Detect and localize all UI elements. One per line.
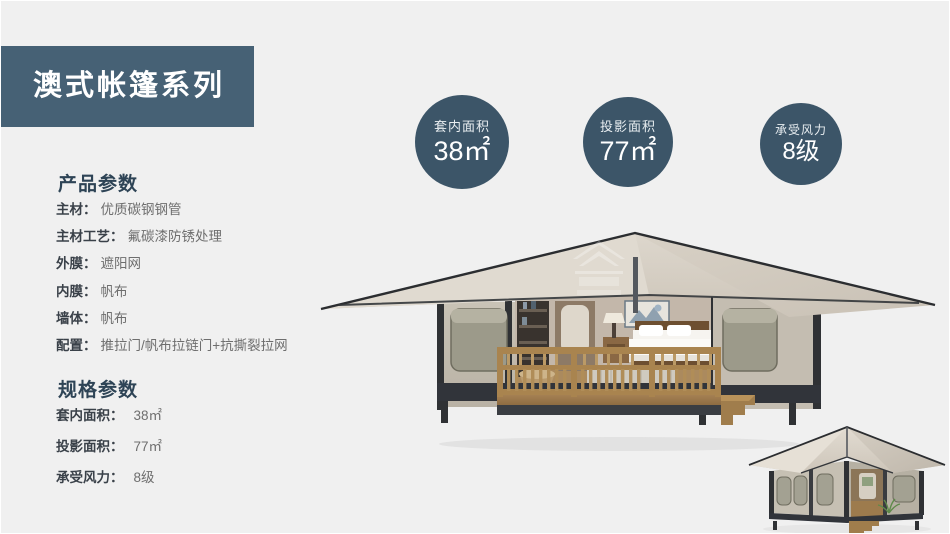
stat-caption: 套内面积 — [434, 120, 490, 133]
stat-badge-projected-area: 投影面积 77㎡ — [583, 97, 673, 187]
stat-value: 38㎡ — [433, 138, 490, 165]
series-title-banner: 澳式帐篷系列 — [1, 46, 254, 127]
param-label: 承受风力： — [56, 469, 124, 487]
param-value: 优质碳钢钢管 — [101, 201, 182, 219]
product-params-heading: 产品参数 — [58, 169, 138, 196]
param-value: 8级 — [134, 469, 155, 487]
param-label: 主材： — [56, 201, 97, 219]
param-label: 内膜： — [56, 283, 97, 301]
param-value: 帆布 — [101, 310, 128, 328]
param-label: 墙体： — [56, 310, 97, 328]
stat-value: 8级 — [782, 140, 819, 164]
stat-caption: 承受风力 — [775, 124, 827, 136]
thumbnail-tent-image — [743, 417, 950, 534]
param-value: 氟碳漆防锈处理 — [128, 228, 223, 246]
series-title-text: 澳式帐篷系列 — [33, 72, 225, 101]
stat-badge-wind-resistance: 承受风力 8级 — [760, 103, 842, 185]
param-value: 遮阳网 — [101, 255, 142, 273]
param-label: 套内面积： — [56, 407, 124, 425]
stat-caption: 投影面积 — [600, 120, 656, 133]
param-value: 38㎡ — [134, 407, 163, 425]
param-label: 外膜： — [56, 255, 97, 273]
param-value: 77㎡ — [134, 438, 163, 456]
stat-badge-interior-area: 套内面积 38㎡ — [415, 95, 509, 189]
param-value: 推拉门/帆布拉链门+抗撕裂拉网 — [101, 337, 288, 355]
param-row: 承受风力： 8级 — [56, 469, 386, 487]
param-label: 投影面积： — [56, 438, 124, 456]
param-value: 帆布 — [101, 283, 128, 301]
param-label: 主材工艺： — [56, 228, 124, 246]
spec-params-heading: 规格参数 — [58, 375, 138, 402]
product-spec-page: 澳式帐篷系列 产品参数 主材： 优质碳钢钢管 主材工艺： 氟碳漆防锈处理 外膜：… — [0, 0, 950, 534]
stat-value: 77㎡ — [599, 138, 656, 165]
param-label: 配置： — [56, 337, 97, 355]
